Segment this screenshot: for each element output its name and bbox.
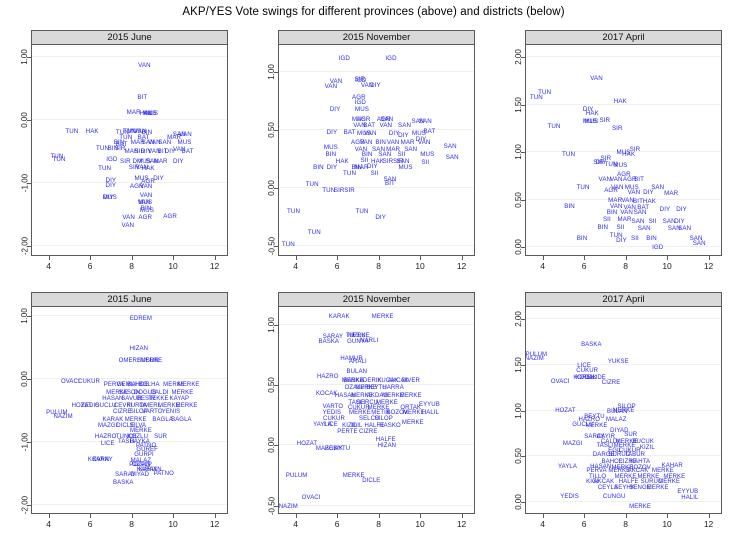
x-axis: 4681012 bbox=[278, 256, 475, 280]
data-point-label: ARALI bbox=[349, 359, 367, 365]
data-point-label: SAN bbox=[632, 219, 645, 225]
x-axis-tick bbox=[296, 514, 297, 518]
data-point-label: YUKSE bbox=[608, 359, 629, 365]
data-point-label: MAR bbox=[618, 217, 632, 223]
data-point-label: AGR bbox=[163, 214, 177, 220]
x-axis-tick-label: 8 bbox=[376, 261, 381, 271]
data-point-label: VARTO bbox=[142, 409, 163, 415]
data-point-label: DIYAD bbox=[131, 472, 149, 478]
data-point-label: MERKE bbox=[400, 393, 422, 399]
data-point-label: OVACI bbox=[61, 379, 80, 385]
data-point-label: SAN bbox=[398, 123, 411, 129]
gridline bbox=[279, 324, 474, 325]
panel-title: 2017 April bbox=[526, 32, 721, 44]
data-point-label: TUN bbox=[308, 230, 321, 236]
data-point-label: MERKE bbox=[176, 403, 198, 409]
x-axis-tick-label: 8 bbox=[623, 519, 628, 529]
y-axis-tick-label: 1.50 bbox=[515, 97, 524, 113]
data-point-label: MAR bbox=[154, 159, 168, 165]
y-axis: 1.000.00-1.00-2.00 bbox=[1, 45, 31, 256]
data-point-label: SAN bbox=[404, 146, 417, 152]
data-point-label: BIN bbox=[646, 236, 657, 242]
x-axis-tick bbox=[584, 514, 585, 518]
data-point-label: BUCUK bbox=[632, 439, 654, 445]
x-axis-tick-label: 12 bbox=[210, 519, 219, 529]
data-point-label: DICLE bbox=[362, 478, 380, 484]
x-axis-tick-label: 4 bbox=[293, 519, 298, 529]
data-point-label: TUN bbox=[343, 171, 356, 177]
data-point-label: LICE bbox=[101, 441, 115, 447]
data-point-label: MAZGI bbox=[563, 441, 583, 447]
data-point-label: VAN bbox=[325, 84, 338, 90]
data-point-label: SAN bbox=[638, 226, 651, 232]
data-point-label: VAN bbox=[590, 76, 603, 82]
data-point-label: HOZAT bbox=[555, 408, 575, 414]
x-axis: 4681012 bbox=[31, 256, 228, 280]
data-point-label: HIZAN bbox=[130, 346, 149, 352]
data-point-label: MUS bbox=[420, 152, 434, 158]
panel-provinces-2015-november: 2015 NovemberIGDIGDVANVANSIRIGDVANDIYAGR… bbox=[278, 30, 475, 256]
data-point-label: SAN bbox=[158, 140, 171, 146]
data-point-label: CIZRE bbox=[359, 429, 378, 435]
data-point-label: PATNO bbox=[154, 471, 174, 477]
data-point-label: BAT bbox=[363, 123, 375, 129]
data-point-label: DIY bbox=[375, 215, 386, 221]
x-axis-tick bbox=[132, 256, 133, 260]
data-point-label: SUR bbox=[154, 434, 167, 440]
data-point-label: VAN bbox=[628, 190, 641, 196]
data-point-label: MUS bbox=[144, 111, 158, 117]
data-point-label: VAN bbox=[122, 215, 135, 221]
x-axis-tick bbox=[49, 256, 50, 260]
data-point-label: SII bbox=[603, 217, 611, 223]
x-axis-tick-label: 4 bbox=[46, 519, 51, 529]
data-point-label: YEDIS bbox=[560, 494, 579, 500]
data-point-label: BASKA bbox=[319, 339, 340, 345]
gridline bbox=[32, 56, 227, 57]
data-point-label: DIY bbox=[106, 182, 117, 188]
data-point-label: MAR bbox=[664, 191, 678, 197]
panel-title: 2017 April bbox=[526, 294, 721, 306]
panel-strip: 2015 November bbox=[278, 30, 475, 45]
y-axis-tick-label: 0.50 bbox=[268, 377, 277, 393]
data-point-label: NAZIM bbox=[525, 356, 544, 362]
y-axis-tick-label: 2.00 bbox=[515, 311, 524, 327]
data-point-label: SAN bbox=[634, 210, 647, 216]
x-axis-tick-label: 10 bbox=[168, 519, 177, 529]
y-axis-tick-label: 1.00 bbox=[515, 145, 524, 161]
data-point-label: DIY bbox=[676, 207, 687, 213]
data-point-label: MUS bbox=[177, 140, 191, 146]
data-point-label: SIR bbox=[334, 188, 345, 194]
data-point-label: TUN bbox=[577, 184, 590, 190]
data-point-label: VAN bbox=[380, 123, 393, 129]
y-axis-tick-label: 1.00 bbox=[268, 64, 277, 80]
data-point-label: MERKE bbox=[629, 504, 651, 510]
data-point-label: HAK bbox=[622, 152, 635, 158]
data-point-label: HALIL bbox=[681, 495, 698, 501]
data-point-label: VAN bbox=[122, 223, 135, 229]
x-axis-tick-label: 12 bbox=[457, 261, 466, 271]
data-point-label: TUN bbox=[287, 209, 300, 215]
data-point-label: MERKE bbox=[130, 428, 152, 434]
x-axis-tick-label: 6 bbox=[88, 261, 93, 271]
x-axis-tick-label: 6 bbox=[582, 261, 587, 271]
panel-title: 2015 November bbox=[279, 294, 474, 306]
panel-provinces-2015-june: 2015 JuneVANBITMARMUSHAKMUSTUNHAKTUNTUNM… bbox=[31, 30, 228, 256]
x-axis-tick bbox=[709, 514, 710, 518]
x-axis-tick bbox=[462, 514, 463, 518]
data-point-label: MUS bbox=[399, 165, 413, 171]
y-axis-tick-label: 0.00 bbox=[515, 494, 524, 510]
plot-area: IGDIGDVANVANSIRIGDVANDIYAGRIGDDIYMUSMUSA… bbox=[278, 45, 475, 256]
data-point-label: BIN bbox=[597, 225, 608, 231]
data-point-label: TUN bbox=[306, 182, 319, 188]
panel-districts-2015-november: 2015 NovemberKARAKMERKESARAYTUZLUMERKEBA… bbox=[278, 292, 475, 514]
data-point-label: TUN bbox=[355, 209, 368, 215]
data-point-label: TUN bbox=[562, 152, 575, 158]
data-point-label: VAN bbox=[138, 63, 151, 69]
data-point-label: BIN bbox=[564, 203, 575, 209]
data-point-label: HAZRO bbox=[317, 374, 339, 380]
panel-districts-2015-june: 2015 JuneEDREMHIZANOMERLSUSURMERKECUKURO… bbox=[31, 292, 228, 514]
data-point-label: AGR bbox=[604, 188, 618, 194]
x-axis-tick bbox=[543, 514, 544, 518]
x-axis-tick bbox=[90, 514, 91, 518]
data-point-label: BASKA bbox=[581, 342, 602, 348]
data-point-label: PULUM bbox=[286, 473, 308, 479]
data-point-label: VAN bbox=[140, 193, 153, 199]
data-point-label: BAGLA bbox=[171, 417, 192, 423]
x-axis-tick-label: 4 bbox=[540, 261, 545, 271]
panel-strip: 2017 April bbox=[525, 30, 722, 45]
data-point-label: MUS bbox=[584, 119, 598, 125]
data-point-label: PERTE bbox=[337, 429, 357, 435]
gridline bbox=[32, 245, 227, 246]
panel-provinces-2017-april: 2017 AprilVANTUNTUNHAKDIYHAKMUSMUSSIRTUN… bbox=[525, 30, 722, 256]
y-axis-tick-label: 0.00 bbox=[21, 112, 30, 128]
data-point-label: MERKE bbox=[402, 420, 424, 426]
panel-strip: 2015 June bbox=[31, 292, 228, 307]
x-axis-tick bbox=[379, 256, 380, 260]
x-axis-tick-label: 4 bbox=[540, 519, 545, 529]
data-point-label: SII bbox=[631, 236, 639, 242]
page-title: AKP/YES Vote swings for different provin… bbox=[0, 6, 747, 18]
data-point-label: KARAY bbox=[92, 457, 112, 463]
panel-title: 2015 June bbox=[32, 294, 227, 306]
data-point-label: MERKE bbox=[125, 417, 147, 423]
x-axis: 4681012 bbox=[278, 514, 475, 538]
y-axis-tick-label: -2.00 bbox=[21, 496, 30, 514]
data-point-label: MERKE bbox=[372, 314, 394, 320]
panel-title: 2015 November bbox=[279, 32, 474, 44]
data-point-label: IGD bbox=[106, 157, 117, 163]
x-axis-tick-label: 12 bbox=[704, 261, 713, 271]
x-axis-tick bbox=[667, 514, 668, 518]
x-axis-tick-label: 6 bbox=[88, 519, 93, 529]
data-point-label: HAK bbox=[86, 129, 99, 135]
plot-area: BASKAPULUMNAZIMYUKSELICECUKURKOREKKOCAKU… bbox=[525, 307, 722, 514]
y-axis: 1.000.500.00-0.50 bbox=[248, 45, 278, 256]
x-axis: 4681012 bbox=[525, 514, 722, 538]
x-axis-tick bbox=[420, 256, 421, 260]
y-axis-tick-label: 0.00 bbox=[268, 438, 277, 454]
x-axis-tick bbox=[462, 256, 463, 260]
data-point-label: OVACI bbox=[551, 379, 570, 385]
x-axis-tick-label: 10 bbox=[168, 261, 177, 271]
data-point-label: HARRA bbox=[382, 385, 404, 391]
data-point-label: IGD bbox=[652, 245, 663, 251]
x-axis-tick bbox=[132, 514, 133, 518]
data-point-label: HALIL bbox=[422, 410, 439, 416]
data-point-label: HAK bbox=[142, 166, 155, 172]
data-point-label: BIT bbox=[385, 181, 395, 187]
data-point-label: MERKE bbox=[658, 479, 680, 485]
data-point-label: DIY bbox=[327, 165, 338, 171]
x-axis-tick-label: 4 bbox=[46, 261, 51, 271]
y-axis-tick-label: -0.50 bbox=[268, 237, 277, 255]
x-axis-tick-label: 12 bbox=[210, 261, 219, 271]
panel-strip: 2015 June bbox=[31, 30, 228, 45]
data-point-label: YAYLA bbox=[558, 464, 577, 470]
panel-title: 2015 June bbox=[32, 32, 227, 44]
y-axis-tick-label: -1.00 bbox=[21, 433, 30, 451]
x-axis-tick bbox=[337, 256, 338, 260]
plot-area: VANTUNTUNHAKDIYHAKMUSMUSSIRTUNSIRSIRMUSH… bbox=[525, 45, 722, 256]
data-point-label: VAN bbox=[621, 198, 634, 204]
x-axis-tick bbox=[215, 256, 216, 260]
x-axis-tick bbox=[379, 514, 380, 518]
x-axis-tick bbox=[709, 256, 710, 260]
data-point-label: BASKA bbox=[343, 378, 364, 384]
y-axis-tick-label: 1.00 bbox=[515, 403, 524, 419]
gridline bbox=[32, 119, 227, 120]
data-point-label: SAN bbox=[446, 155, 459, 161]
data-point-label: SIVER bbox=[401, 378, 420, 384]
data-point-label: SII bbox=[421, 160, 429, 166]
x-axis-tick bbox=[296, 256, 297, 260]
data-point-label: BAGLA bbox=[152, 417, 173, 423]
data-point-label: TUN bbox=[530, 95, 543, 101]
data-point-label: NAZIM bbox=[54, 414, 73, 420]
data-point-label: SII bbox=[616, 225, 624, 231]
gridline bbox=[526, 318, 721, 319]
data-point-label: SUR bbox=[624, 432, 637, 438]
data-point-label: MERKE bbox=[140, 358, 162, 364]
data-point-label: SIR bbox=[383, 159, 394, 165]
data-point-label: EYYUB bbox=[419, 402, 440, 408]
x-axis-tick bbox=[420, 514, 421, 518]
data-point-label: VAN bbox=[140, 184, 153, 190]
y-axis-tick-label: 0.00 bbox=[515, 240, 524, 256]
data-point-label: IGD bbox=[339, 56, 350, 62]
data-point-label: SIR bbox=[600, 118, 611, 124]
data-point-label: AGR bbox=[138, 215, 152, 221]
data-point-label: KARAK bbox=[329, 314, 350, 320]
data-point-label: SAN bbox=[693, 240, 706, 246]
data-point-label: MERKE bbox=[586, 423, 608, 429]
x-axis-tick-label: 6 bbox=[582, 519, 587, 529]
data-point-label: IGD bbox=[385, 56, 396, 62]
x-axis-tick bbox=[215, 514, 216, 518]
x-axis-tick-label: 8 bbox=[129, 261, 134, 271]
x-axis-tick-label: 6 bbox=[335, 261, 340, 271]
x-axis: 4681012 bbox=[525, 256, 722, 280]
gridline bbox=[279, 245, 474, 246]
gridline bbox=[526, 56, 721, 57]
data-point-label: DIY bbox=[674, 219, 685, 225]
y-axis-tick-label: -0.50 bbox=[268, 497, 277, 515]
x-axis-tick-label: 4 bbox=[293, 261, 298, 271]
x-axis-tick bbox=[543, 256, 544, 260]
data-point-label: KAHTA bbox=[630, 459, 650, 465]
data-point-label: SIR bbox=[612, 125, 623, 131]
data-point-label: BOLHA bbox=[139, 382, 160, 388]
x-axis-tick-label: 12 bbox=[704, 519, 713, 529]
data-point-label: HIZAN bbox=[378, 443, 397, 449]
data-point-label: PERVA bbox=[586, 468, 606, 474]
y-axis-tick-label: 0.00 bbox=[21, 371, 30, 387]
data-point-label: DIY bbox=[153, 176, 164, 182]
x-axis-tick-label: 10 bbox=[415, 519, 424, 529]
data-point-label: TUN bbox=[547, 124, 560, 130]
data-point-label: BULAN bbox=[347, 369, 368, 375]
data-point-label: CIZRE bbox=[113, 409, 132, 415]
x-axis-tick bbox=[626, 256, 627, 260]
data-point-label: DIY bbox=[643, 190, 654, 196]
data-point-label: BIN bbox=[313, 165, 324, 171]
data-point-label: TUN bbox=[282, 242, 295, 248]
x-axis-tick-label: 12 bbox=[457, 519, 466, 529]
data-point-label: EYYUB bbox=[677, 489, 698, 495]
x-axis-tick-label: 10 bbox=[662, 519, 671, 529]
data-point-label: MALAZ bbox=[606, 417, 627, 423]
data-point-label: TUN bbox=[52, 157, 65, 163]
data-point-label: MUS bbox=[355, 107, 369, 113]
y-axis-tick-label: 0.50 bbox=[268, 122, 277, 138]
data-point-label: CUNGU bbox=[603, 494, 626, 500]
data-point-label: DIY bbox=[173, 159, 184, 165]
x-axis-tick-label: 10 bbox=[662, 261, 671, 271]
data-point-label: EDREM bbox=[130, 316, 152, 322]
x-axis: 4681012 bbox=[31, 514, 228, 538]
x-axis-tick bbox=[173, 514, 174, 518]
data-point-label: AKCAK bbox=[593, 479, 614, 485]
y-axis-tick-label: 1.50 bbox=[515, 357, 524, 373]
data-point-label: BASKA bbox=[113, 480, 134, 486]
data-point-label: MAZGI bbox=[98, 423, 118, 429]
data-point-label: HAK bbox=[614, 99, 627, 105]
data-point-label: BIN bbox=[141, 206, 152, 212]
x-axis-tick-label: 8 bbox=[623, 261, 628, 271]
data-point-label: DIY bbox=[370, 83, 381, 89]
data-point-label: SAN bbox=[444, 144, 457, 150]
data-point-label: YENIS bbox=[162, 409, 181, 415]
y-axis-tick-label: 0.50 bbox=[515, 448, 524, 464]
y-axis-tick-label: 1.00 bbox=[21, 50, 30, 66]
x-axis-tick bbox=[337, 514, 338, 518]
x-axis-tick bbox=[49, 514, 50, 518]
data-point-label: MERKE bbox=[647, 485, 669, 491]
y-axis-tick-label: 0.00 bbox=[268, 180, 277, 196]
data-point-label: AYTU bbox=[334, 446, 350, 452]
data-point-label: BAT bbox=[344, 130, 356, 136]
gridline bbox=[279, 505, 474, 506]
data-point-label: VAN bbox=[610, 177, 623, 183]
data-point-label: BIT bbox=[634, 177, 644, 183]
data-point-label: CUKUR bbox=[78, 379, 100, 385]
data-point-label: AKCAK bbox=[628, 468, 649, 474]
data-point-label: DIY bbox=[416, 137, 427, 143]
x-axis-tick-label: 6 bbox=[335, 519, 340, 529]
plot-area: VANBITMARMUSHAKMUSTUNHAKTUNTUNMUSVANBINT… bbox=[31, 45, 228, 256]
data-point-label: MUS bbox=[613, 163, 627, 169]
data-point-label: DIY bbox=[616, 238, 627, 244]
data-point-label: HOZAT bbox=[297, 441, 317, 447]
data-point-label: CUKUR bbox=[576, 368, 598, 374]
data-point-label: BULAN bbox=[607, 409, 628, 415]
data-point-label: DIY bbox=[103, 195, 114, 201]
data-point-label: BIT bbox=[137, 95, 147, 101]
data-point-label: SII bbox=[370, 171, 378, 177]
plot-area: EDREMHIZANOMERLSUSURMERKECUKUROVACIPERVA… bbox=[31, 307, 228, 514]
y-axis: 1.000.500.00-0.50 bbox=[248, 307, 278, 514]
data-point-label: HAZRO bbox=[95, 434, 117, 440]
data-point-label: DIY bbox=[660, 207, 671, 213]
x-axis-tick-label: 8 bbox=[129, 519, 134, 529]
y-axis: 2.001.501.000.500.00 bbox=[495, 307, 525, 514]
data-point-label: BAT bbox=[423, 129, 435, 135]
data-point-label: NAZIM bbox=[279, 504, 298, 510]
panel-strip: 2015 November bbox=[278, 292, 475, 307]
data-point-label: BIN bbox=[577, 236, 588, 242]
x-axis-tick bbox=[626, 514, 627, 518]
data-point-label: TUN bbox=[98, 166, 111, 172]
data-point-label: VAN bbox=[364, 131, 377, 137]
panel-districts-2017-april: 2017 AprilBASKAPULUMNAZIMYUKSELICECUKURK… bbox=[525, 292, 722, 514]
data-point-label: TABUR bbox=[625, 452, 645, 458]
x-axis-tick bbox=[173, 256, 174, 260]
data-point-label: HAK bbox=[336, 159, 349, 165]
data-point-label: HAK bbox=[586, 111, 599, 117]
y-axis-tick-label: 0.50 bbox=[515, 192, 524, 208]
panel-strip: 2017 April bbox=[525, 292, 722, 307]
figure-root: AKP/YES Vote swings for different provin… bbox=[0, 0, 747, 544]
data-point-label: NARLI bbox=[360, 338, 378, 344]
data-point-label: GURPI bbox=[134, 452, 154, 458]
data-point-label: BAT bbox=[182, 149, 194, 155]
y-axis-tick-label: 1.00 bbox=[21, 308, 30, 324]
data-point-label: KAYAP bbox=[169, 396, 189, 402]
gridline bbox=[279, 71, 474, 72]
x-axis-tick bbox=[584, 256, 585, 260]
data-point-label: SIR bbox=[344, 188, 355, 194]
data-point-label: HALFE bbox=[619, 479, 639, 485]
plot-area: KARAKMERKESARAYTUZLUMERKEBASKAGUNYANARLI… bbox=[278, 307, 475, 514]
data-point-label: SILOP bbox=[375, 416, 393, 422]
y-axis-tick-label: -2.00 bbox=[21, 236, 30, 254]
x-axis-tick bbox=[90, 256, 91, 260]
data-point-label: TUN bbox=[65, 129, 78, 135]
data-point-label: MERKE bbox=[178, 382, 200, 388]
data-point-label: DIY bbox=[327, 130, 338, 136]
data-point-label: SAN bbox=[678, 226, 691, 232]
data-point-label: SAN bbox=[419, 119, 432, 125]
data-point-label: DIY bbox=[330, 107, 341, 113]
y-axis-tick-label: 1.00 bbox=[268, 317, 277, 333]
y-axis-tick-label: -1.00 bbox=[21, 174, 30, 192]
data-point-label: OVACI bbox=[302, 495, 321, 501]
